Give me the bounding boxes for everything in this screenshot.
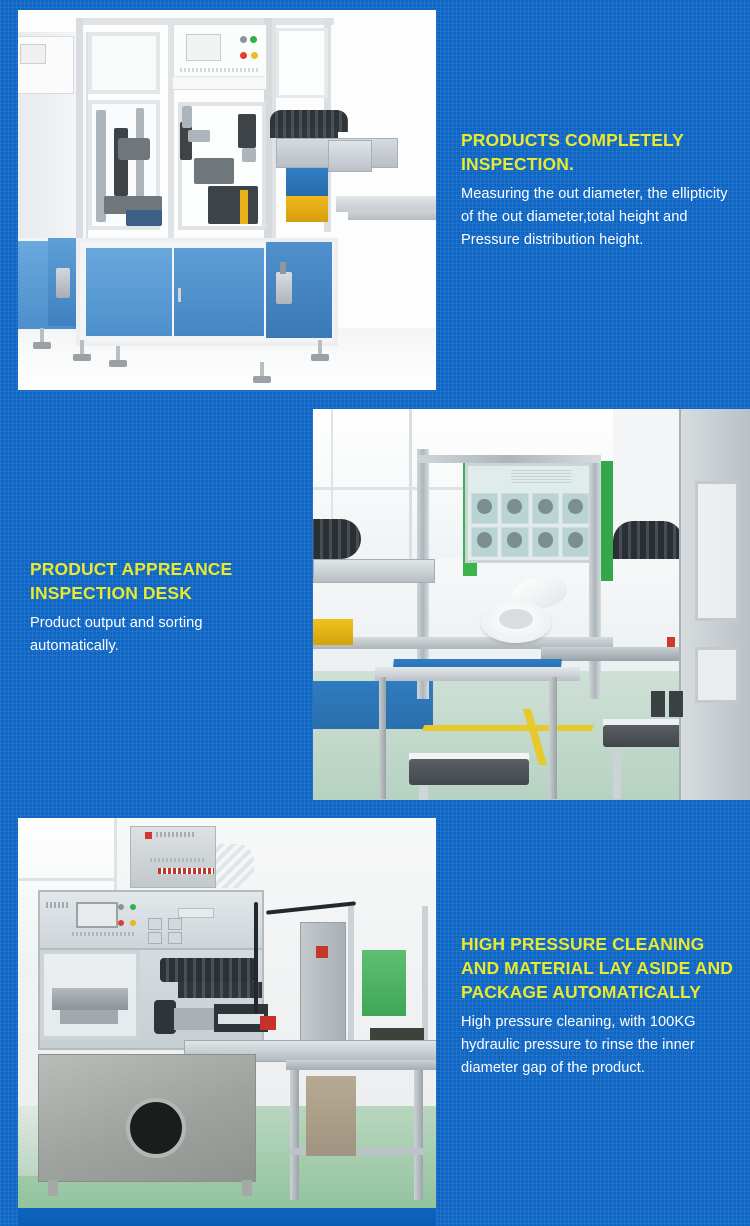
machine-photo-products-inspection [18, 10, 436, 390]
cable-drag-chain-lower [178, 982, 262, 998]
air-filter-regulator [276, 272, 292, 304]
carton-stack [306, 1076, 356, 1156]
gantry-top-beam [417, 455, 601, 463]
conveyor-rail-lower [541, 647, 701, 661]
indicator-light-yellow [130, 920, 136, 926]
board-image-cell [532, 493, 559, 524]
internal-yellow-guard [240, 190, 248, 224]
panel-button-c [148, 932, 162, 944]
machine-photo-appearance-desk [313, 409, 750, 800]
board-image-cell [562, 493, 589, 524]
hmi-lower-band [173, 76, 265, 89]
leveling-foot-2 [109, 360, 127, 367]
board-image-cell [501, 527, 528, 558]
board-image-cell [471, 527, 498, 558]
panel-button-d [168, 932, 182, 944]
cabinet-door-right [174, 248, 264, 336]
manufacturer-logo-text [72, 932, 134, 936]
exhaust-duct [214, 844, 254, 888]
board-image-cell [471, 493, 498, 524]
internal-mechanism-lower [60, 1010, 118, 1024]
hmi-display-screen [186, 34, 221, 61]
instruction-board-image-grid [471, 493, 589, 557]
air-filter-valve [280, 262, 286, 274]
section-text-appearance-desk: PRODUCT APPREANCE INSPECTION DESK Produc… [30, 557, 290, 658]
top-unit-logo-mark [145, 832, 152, 839]
leveling-foot-3 [253, 376, 271, 383]
indicator-light-red [240, 52, 247, 59]
product-inner-bore [499, 609, 533, 629]
floor-marking-line [421, 725, 594, 731]
photo-bottom-blue-strip [18, 1208, 436, 1226]
yellow-transfer-block [286, 196, 328, 222]
indicator-light-gray [118, 904, 124, 910]
stool-seat-right [603, 725, 689, 747]
window-transom [18, 878, 114, 881]
section-text-high-pressure-cleaning: HIGH PRESSURE CLEANING AND MATERIAL LAY … [461, 932, 739, 1080]
window-panel-upper-left [88, 32, 160, 94]
instruction-board-title [511, 469, 571, 483]
conveyor-leg-right [414, 1070, 423, 1200]
indicator-light-red [118, 920, 124, 926]
section-heading: PRODUCTS COMPLETELY INSPECTION. [461, 128, 729, 176]
cable-drag-chain [160, 958, 256, 982]
emergency-stop-button [667, 637, 675, 647]
gantry-post-right [589, 455, 601, 699]
internal-sensor-head [238, 114, 256, 148]
rear-hmi-screen [20, 44, 46, 64]
feeder-assembly [174, 1008, 214, 1030]
stool-leg-right [613, 747, 621, 799]
frame-post-left [76, 18, 83, 244]
internal-bracket [188, 130, 210, 142]
cabinet-switch-right [669, 691, 683, 717]
yellow-transfer-block [313, 619, 353, 645]
red-marker-tag [260, 1016, 276, 1030]
machine-photo-high-pressure-cleaning [18, 818, 436, 1226]
section-text-products-inspection: PRODUCTS COMPLETELY INSPECTION. Measurin… [461, 128, 729, 252]
panel-button-b [168, 918, 182, 930]
cabinet-window-upper [695, 481, 739, 621]
machine-foot-left [48, 1180, 58, 1196]
hmi-display-screen [76, 902, 118, 928]
cabinet-warning-label [316, 946, 328, 958]
cabinet-switch-left [651, 691, 665, 717]
valve-block-face [218, 1014, 264, 1024]
air-filter-regulator-rear [56, 268, 70, 298]
leveling-foot-4 [311, 354, 329, 361]
conveyor-end-box [328, 140, 372, 172]
cable-chain-arm [270, 128, 338, 138]
hmi-brand-label [180, 68, 258, 72]
section-body: Product output and sorting automatically… [30, 612, 290, 658]
leveling-foot-1 [73, 354, 91, 361]
indicator-light-yellow [251, 52, 258, 59]
section-body: Measuring the out diameter, the elliptic… [461, 183, 729, 252]
chamber-porthole [126, 1098, 186, 1158]
conveyor-leg-left [290, 1070, 299, 1200]
cable-drag-chain-left [313, 519, 361, 559]
cabinet-door-left [86, 248, 172, 336]
linear-actuator-arm [313, 559, 435, 583]
table-leg-right [549, 677, 557, 799]
indicator-light-gray [240, 36, 247, 43]
cabinet-window-lower [695, 647, 739, 703]
internal-assembly-unit [194, 158, 234, 184]
board-image-cell [501, 493, 528, 524]
green-curtain-right [601, 461, 613, 581]
internal-sensor-tip [242, 148, 256, 162]
top-unit-spec-text [150, 858, 204, 862]
cable-drag-chain-right [613, 521, 683, 559]
board-image-cell [532, 527, 559, 558]
top-unit-brand-text [156, 832, 196, 837]
top-unit-warning-stripe [158, 868, 214, 874]
panel-button-a [148, 918, 162, 930]
internal-actuator-a [118, 138, 150, 160]
leveling-foot-5 [33, 342, 51, 349]
output-conveyor-rail [286, 1060, 436, 1070]
section-heading: HIGH PRESSURE CLEANING AND MATERIAL LAY … [461, 932, 739, 1004]
table-leg-left [379, 677, 386, 799]
drive-motor [154, 1000, 176, 1034]
indicator-light-green [130, 904, 136, 910]
machine-foot-right [242, 1180, 252, 1196]
cabinet-door-handle [178, 288, 181, 302]
stool-leg-front [419, 785, 428, 800]
board-image-cell [562, 527, 589, 558]
hydraulic-hose-vertical [254, 902, 258, 1014]
internal-mechanism-upper [52, 988, 128, 1010]
factory-floor-blue [313, 681, 433, 729]
green-panel-unit [362, 950, 406, 1016]
window-panel-right [276, 28, 328, 98]
section-heading: PRODUCT APPREANCE INSPECTION DESK [30, 557, 290, 605]
output-rail-lower [348, 210, 436, 220]
indicator-light-green [250, 36, 257, 43]
window-mullion-2 [409, 409, 412, 579]
internal-blue-block [126, 210, 162, 226]
section-body: High pressure cleaning, with 100KG hydra… [461, 1011, 739, 1080]
panel-right-nameplate [178, 908, 214, 918]
control-panel-label [46, 902, 68, 908]
internal-lower-mech [208, 186, 258, 224]
internal-post [182, 106, 192, 128]
stool-seat-front [409, 759, 529, 785]
